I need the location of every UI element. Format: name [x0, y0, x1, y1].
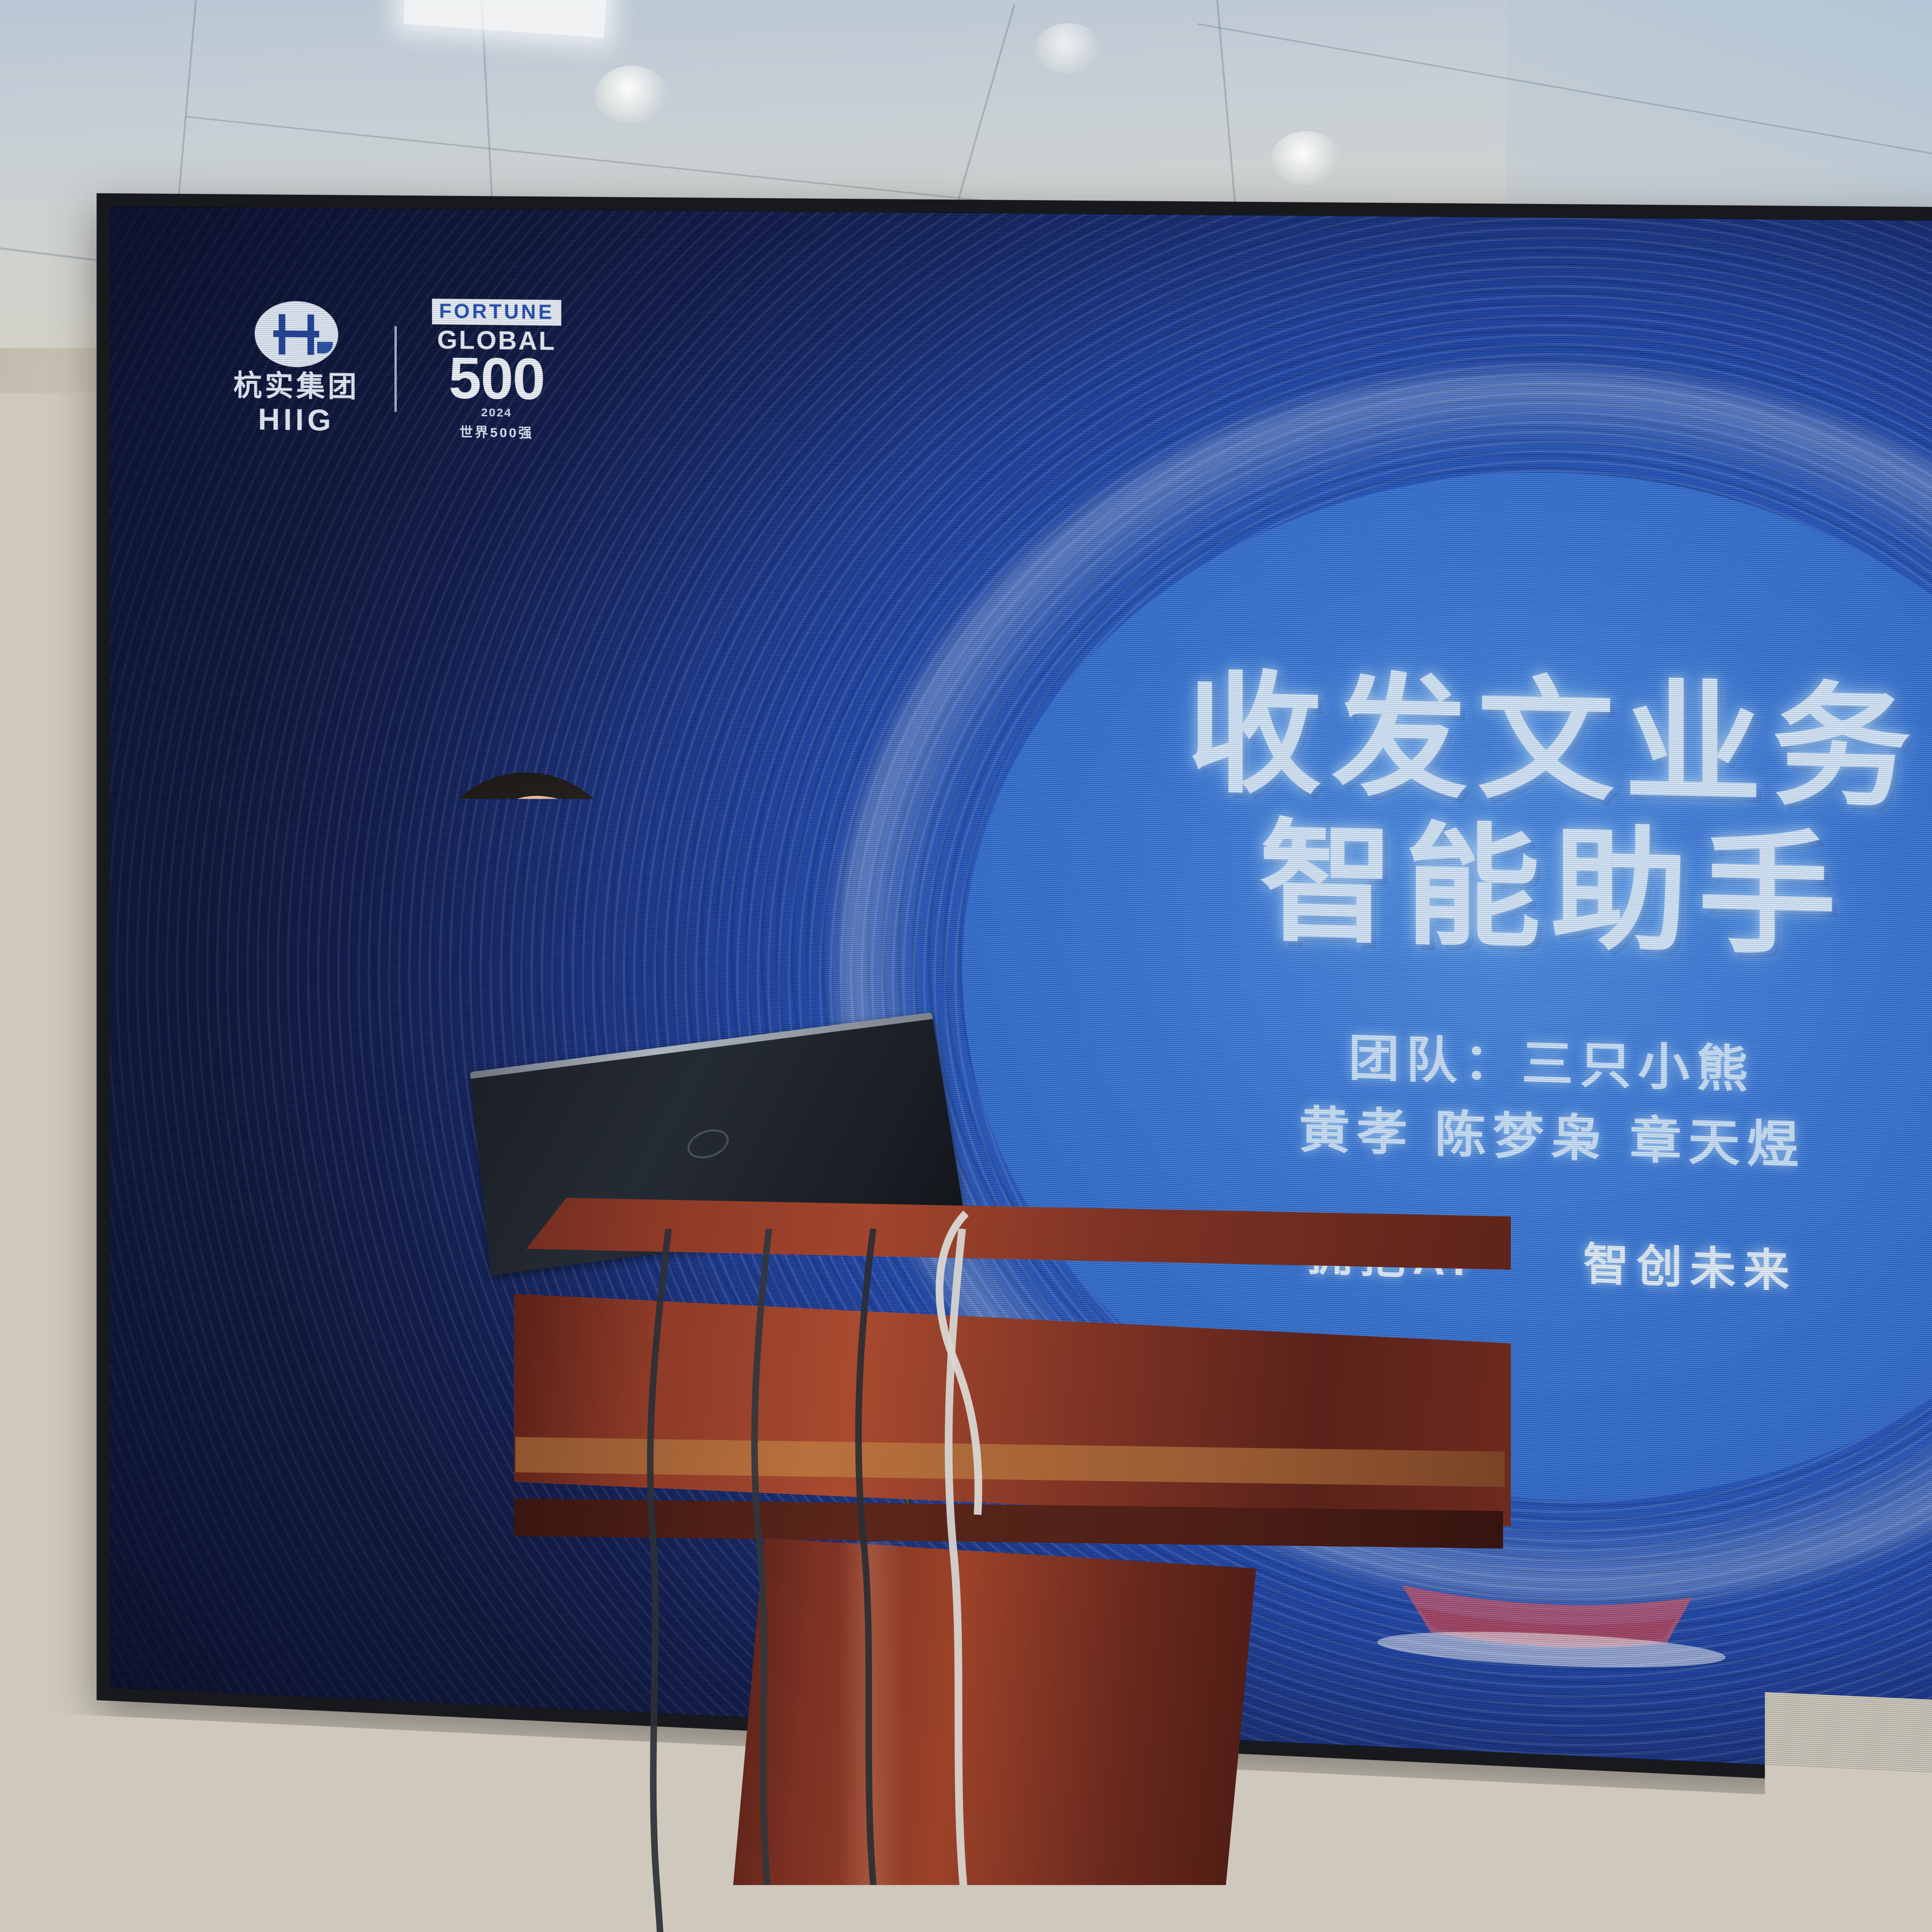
- fortune-global-500-badge: FORTUNE GLOBAL 500 2024 世界500强: [432, 299, 561, 442]
- slide-logo-row: 杭实集团 HIIG FORTUNE GLOBAL 500 2024 世界500强: [233, 297, 561, 442]
- laptop-cable: [920, 1198, 1267, 1546]
- presenter-ear: [453, 900, 490, 951]
- presentation-photo-scene: 杭实集团 HIIG FORTUNE GLOBAL 500 2024 世界500强…: [0, 0, 1932, 1932]
- company-logo: 杭实集团 HIIG: [233, 300, 359, 435]
- fortune-year: 2024: [481, 406, 512, 420]
- ceiling-downlight: [595, 66, 668, 124]
- cable: [755, 1229, 780, 1932]
- hiig-emblem-icon: [254, 301, 338, 367]
- cable: [650, 1229, 668, 1932]
- company-name-en: HIIG: [258, 404, 335, 435]
- logo-divider: [395, 326, 397, 412]
- cable: [859, 1229, 886, 1932]
- ceiling-downlight: [1271, 131, 1341, 185]
- presenter-arm: [311, 1141, 466, 1664]
- company-name-cn: 杭实集团: [233, 371, 359, 401]
- tagline-right: 智创未来: [1583, 1240, 1797, 1296]
- fortune-caption-cn: 世界500强: [459, 421, 534, 441]
- five-hundred-number: 500: [449, 351, 544, 406]
- ceiling-downlight: [1036, 23, 1101, 73]
- fortune-word: FORTUNE: [432, 299, 561, 326]
